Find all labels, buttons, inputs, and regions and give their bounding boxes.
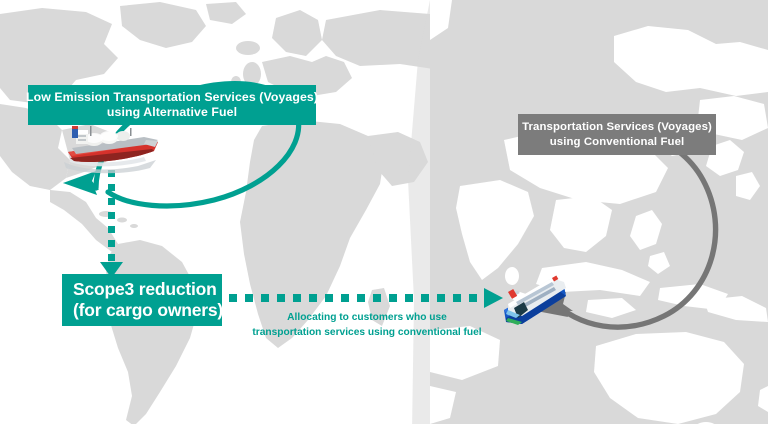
allocating-caption: Allocating to customers who use transpor… xyxy=(228,311,506,341)
infographic-canvas: Low Emission Transportation Services (Vo… xyxy=(0,0,768,432)
blue-car-carrier-ship-icon xyxy=(494,272,578,334)
banner-low-emission-alternative-fuel: Low Emission Transportation Services (Vo… xyxy=(28,85,316,125)
scope3-line2: (for cargo owners) xyxy=(73,300,223,321)
banner-conv-fuel-line2: using Conventional Fuel xyxy=(550,135,685,149)
allocating-caption-line2: transportation services using convention… xyxy=(228,326,506,341)
banner-conventional-fuel: Transportation Services (Voyages) using … xyxy=(518,114,716,155)
scope3-line1: Scope3 reduction xyxy=(73,279,217,300)
banner-alt-fuel-line1: Low Emission Transportation Services (Vo… xyxy=(26,90,318,105)
teal-dotted-right-arrow-icon xyxy=(0,0,768,432)
red-tanker-ship-icon xyxy=(60,118,164,176)
banner-conv-fuel-line1: Transportation Services (Voyages) xyxy=(522,120,712,134)
banner-alt-fuel-line2: using Alternative Fuel xyxy=(107,105,237,120)
allocating-caption-line1: Allocating to customers who use xyxy=(228,311,506,326)
scope3-reduction-box: Scope3 reduction (for cargo owners) xyxy=(62,274,222,326)
